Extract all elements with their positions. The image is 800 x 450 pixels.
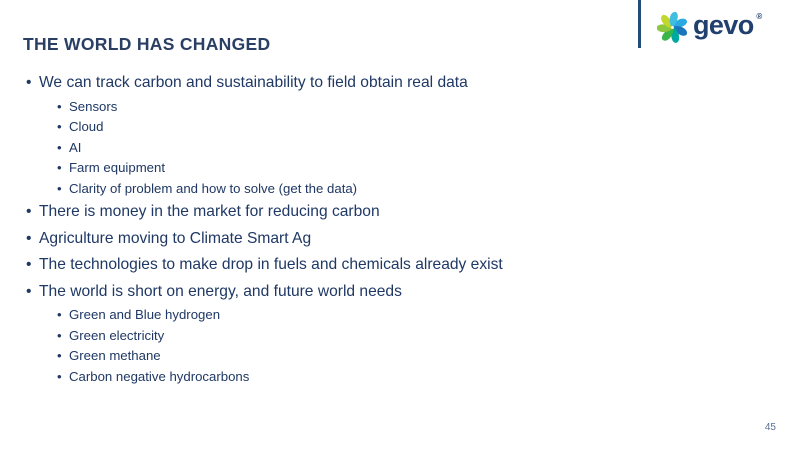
bullet-dot-icon: •	[57, 158, 62, 179]
bullet-text: Clarity of problem and how to solve (get…	[69, 179, 357, 200]
bullet-item: •The world is short on energy, and futur…	[0, 279, 700, 306]
bullet-text: Green electricity	[69, 326, 164, 347]
gevo-pinwheel-icon	[657, 12, 688, 43]
sub-bullet-item: •AI	[0, 138, 700, 159]
bullet-text: Farm equipment	[69, 158, 165, 179]
bullet-text: AI	[69, 138, 81, 159]
sub-bullet-item: •Cloud	[0, 117, 700, 138]
bullet-text: There is money in the market for reducin…	[39, 199, 380, 226]
bullet-dot-icon: •	[26, 70, 31, 97]
bullet-dot-icon: •	[57, 305, 62, 326]
bullet-item: •The technologies to make drop in fuels …	[0, 252, 700, 279]
bullet-item: •There is money in the market for reduci…	[0, 199, 700, 226]
sub-bullet-item: •Green and Blue hydrogen	[0, 305, 700, 326]
bullet-dot-icon: •	[26, 199, 31, 226]
sub-bullet-item: •Clarity of problem and how to solve (ge…	[0, 179, 700, 200]
bullet-item: •Agriculture moving to Climate Smart Ag	[0, 226, 700, 253]
page-title: THE WORLD HAS CHANGED	[23, 34, 270, 55]
gevo-wordmark-text: gevo	[693, 10, 754, 40]
bullet-text: Green and Blue hydrogen	[69, 305, 220, 326]
bullet-dot-icon: •	[57, 97, 62, 118]
gevo-wordmark: gevo ®	[693, 12, 754, 42]
bullet-text: The technologies to make drop in fuels a…	[39, 252, 503, 279]
bullet-dot-icon: •	[57, 117, 62, 138]
page-number: 45	[765, 422, 776, 433]
bullet-text: Cloud	[69, 117, 103, 138]
registered-trademark-symbol: ®	[756, 13, 761, 21]
sub-bullet-item: •Carbon negative hydrocarbons	[0, 367, 700, 388]
gevo-logo: gevo ®	[657, 11, 754, 43]
bullet-dot-icon: •	[57, 138, 62, 159]
bullet-text: Green methane	[69, 346, 161, 367]
bullet-item: •We can track carbon and sustainability …	[0, 70, 700, 97]
sub-bullet-item: •Green electricity	[0, 326, 700, 347]
bullet-text: The world is short on energy, and future…	[39, 279, 402, 306]
bullet-dot-icon: •	[26, 279, 31, 306]
slide-body: •We can track carbon and sustainability …	[0, 70, 700, 387]
sub-bullet-item: •Farm equipment	[0, 158, 700, 179]
presentation-slide: THE WORLD HAS CHANGED gevo	[0, 0, 800, 450]
sub-bullet-item: •Sensors	[0, 97, 700, 118]
bullet-dot-icon: •	[57, 179, 62, 200]
bullet-text: Sensors	[69, 97, 117, 118]
bullet-text: Carbon negative hydrocarbons	[69, 367, 249, 388]
bullet-dot-icon: •	[26, 252, 31, 279]
header-divider	[638, 0, 641, 48]
sub-bullet-item: •Green methane	[0, 346, 700, 367]
bullet-dot-icon: •	[57, 367, 62, 388]
bullet-dot-icon: •	[57, 346, 62, 367]
bullet-dot-icon: •	[57, 326, 62, 347]
bullet-dot-icon: •	[26, 226, 31, 253]
bullet-text: We can track carbon and sustainability t…	[39, 70, 468, 97]
bullet-text: Agriculture moving to Climate Smart Ag	[39, 226, 311, 253]
